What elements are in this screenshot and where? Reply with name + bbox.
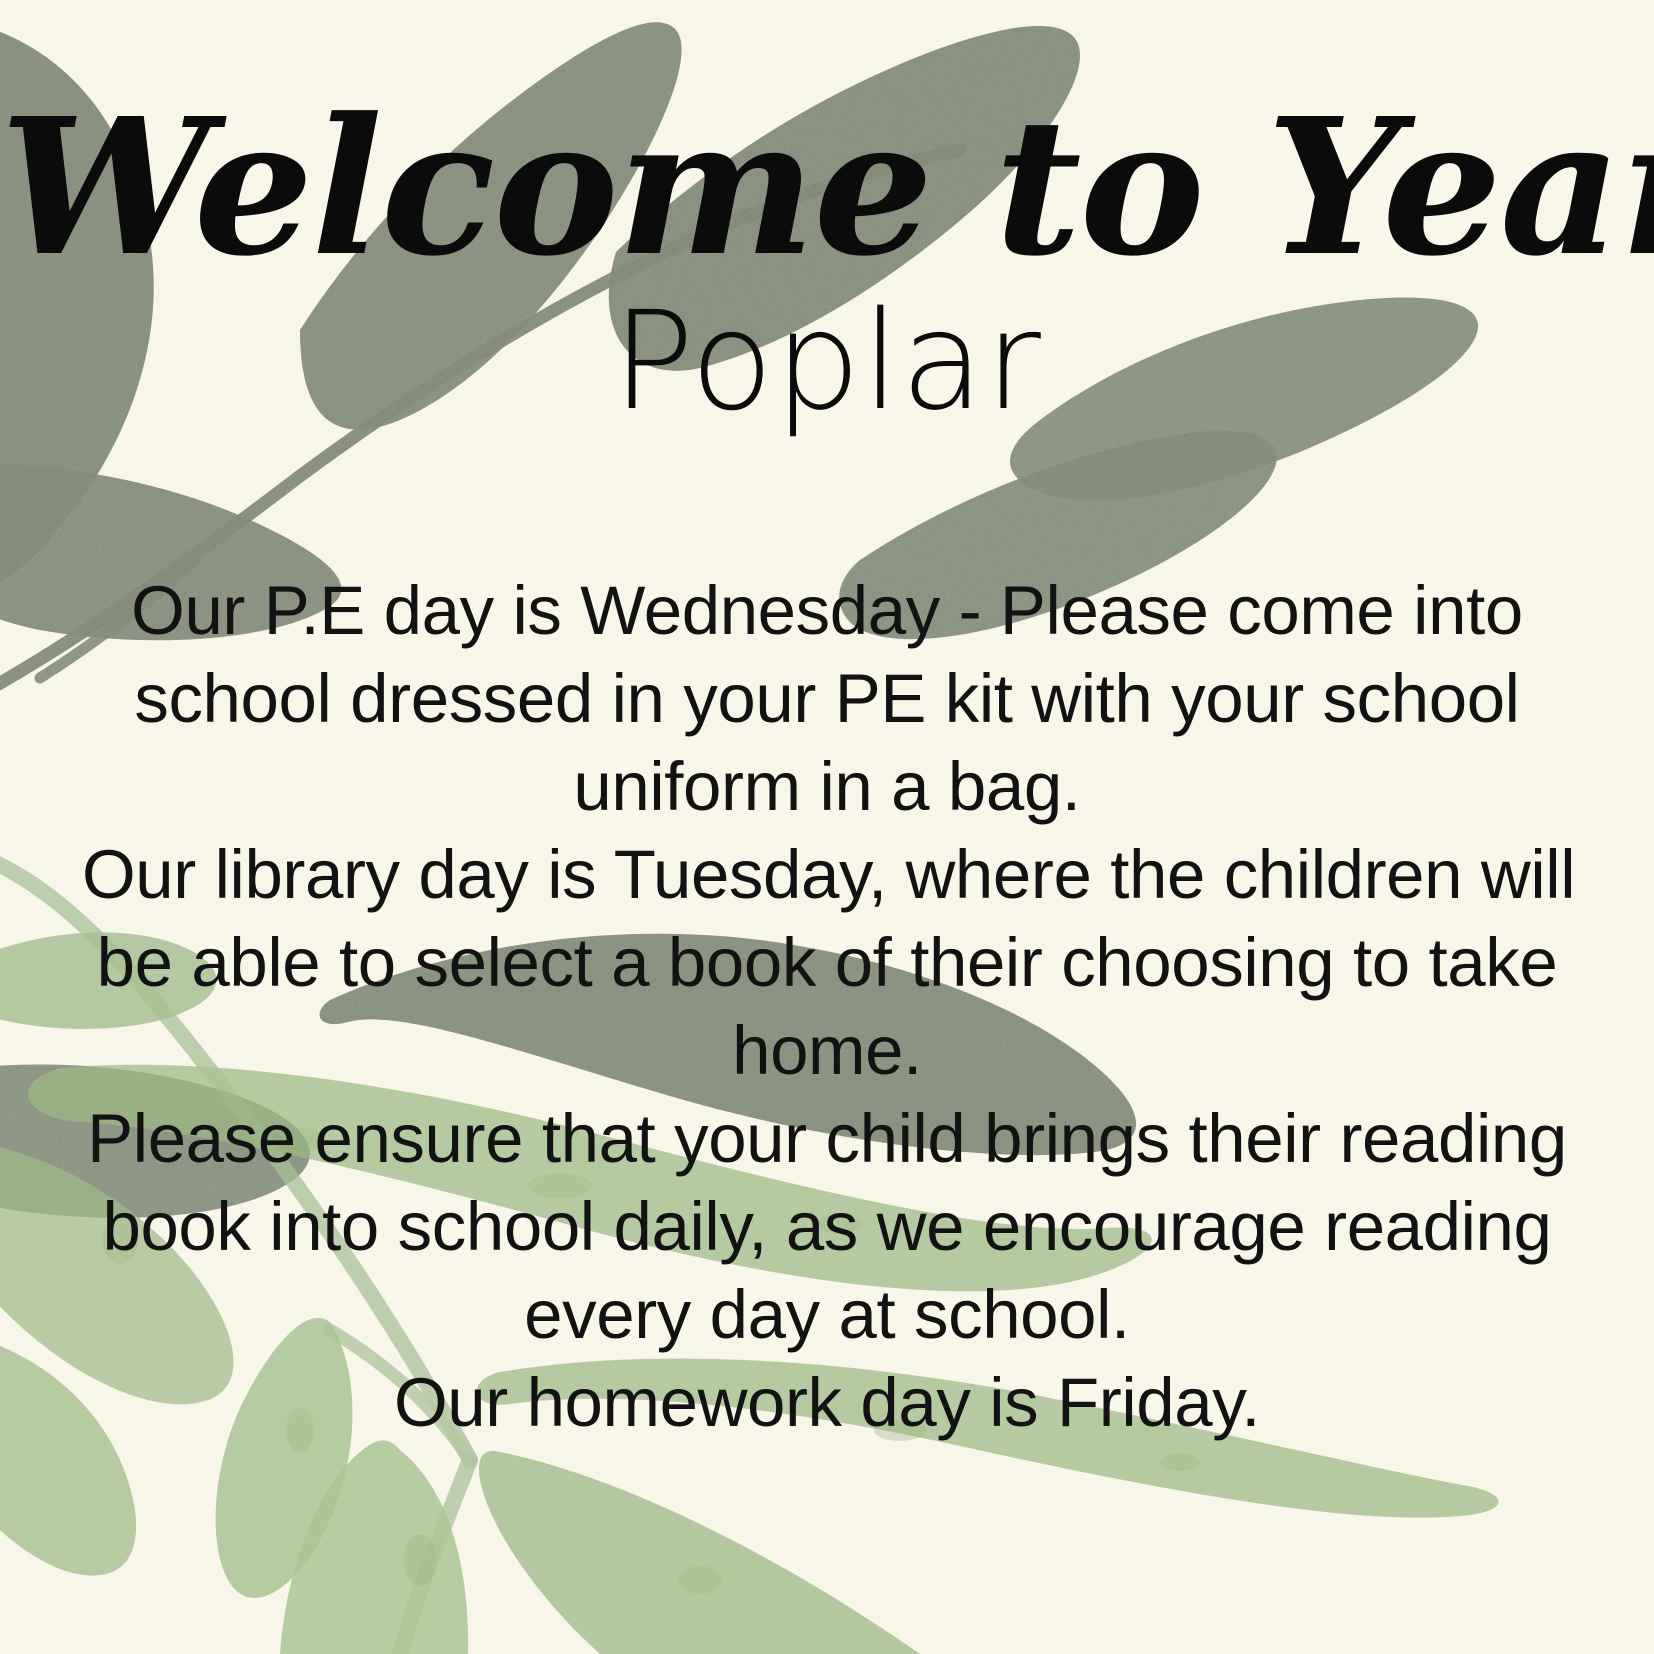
body-line: be able to select a book of their choosi…: [82, 919, 1572, 1007]
poster-body: Our P.E day is Wednesday - Please come i…: [82, 567, 1572, 1447]
body-line: Our P.E day is Wednesday - Please come i…: [82, 567, 1572, 655]
page-title: Welcome to Year 3: [0, 96, 1654, 280]
welcome-poster: Welcome to Year 3 Poplar Our P.E day is …: [0, 0, 1654, 1654]
poster-header: Welcome to Year 3 Poplar: [0, 96, 1654, 439]
body-line: book into school daily, as we encourage …: [82, 1183, 1572, 1271]
class-name-subtitle: Poplar: [0, 286, 1654, 438]
body-line: every day at school.: [82, 1271, 1572, 1359]
body-line: Our library day is Tuesday, where the ch…: [82, 831, 1572, 919]
body-line: school dressed in your PE kit with your …: [82, 655, 1572, 743]
poster-content: Welcome to Year 3 Poplar Our P.E day is …: [0, 0, 1654, 1654]
body-line: Please ensure that your child brings the…: [82, 1095, 1572, 1183]
body-line: home.: [82, 1007, 1572, 1095]
body-line: uniform in a bag.: [82, 743, 1572, 831]
body-line: Our homework day is Friday.: [82, 1359, 1572, 1447]
